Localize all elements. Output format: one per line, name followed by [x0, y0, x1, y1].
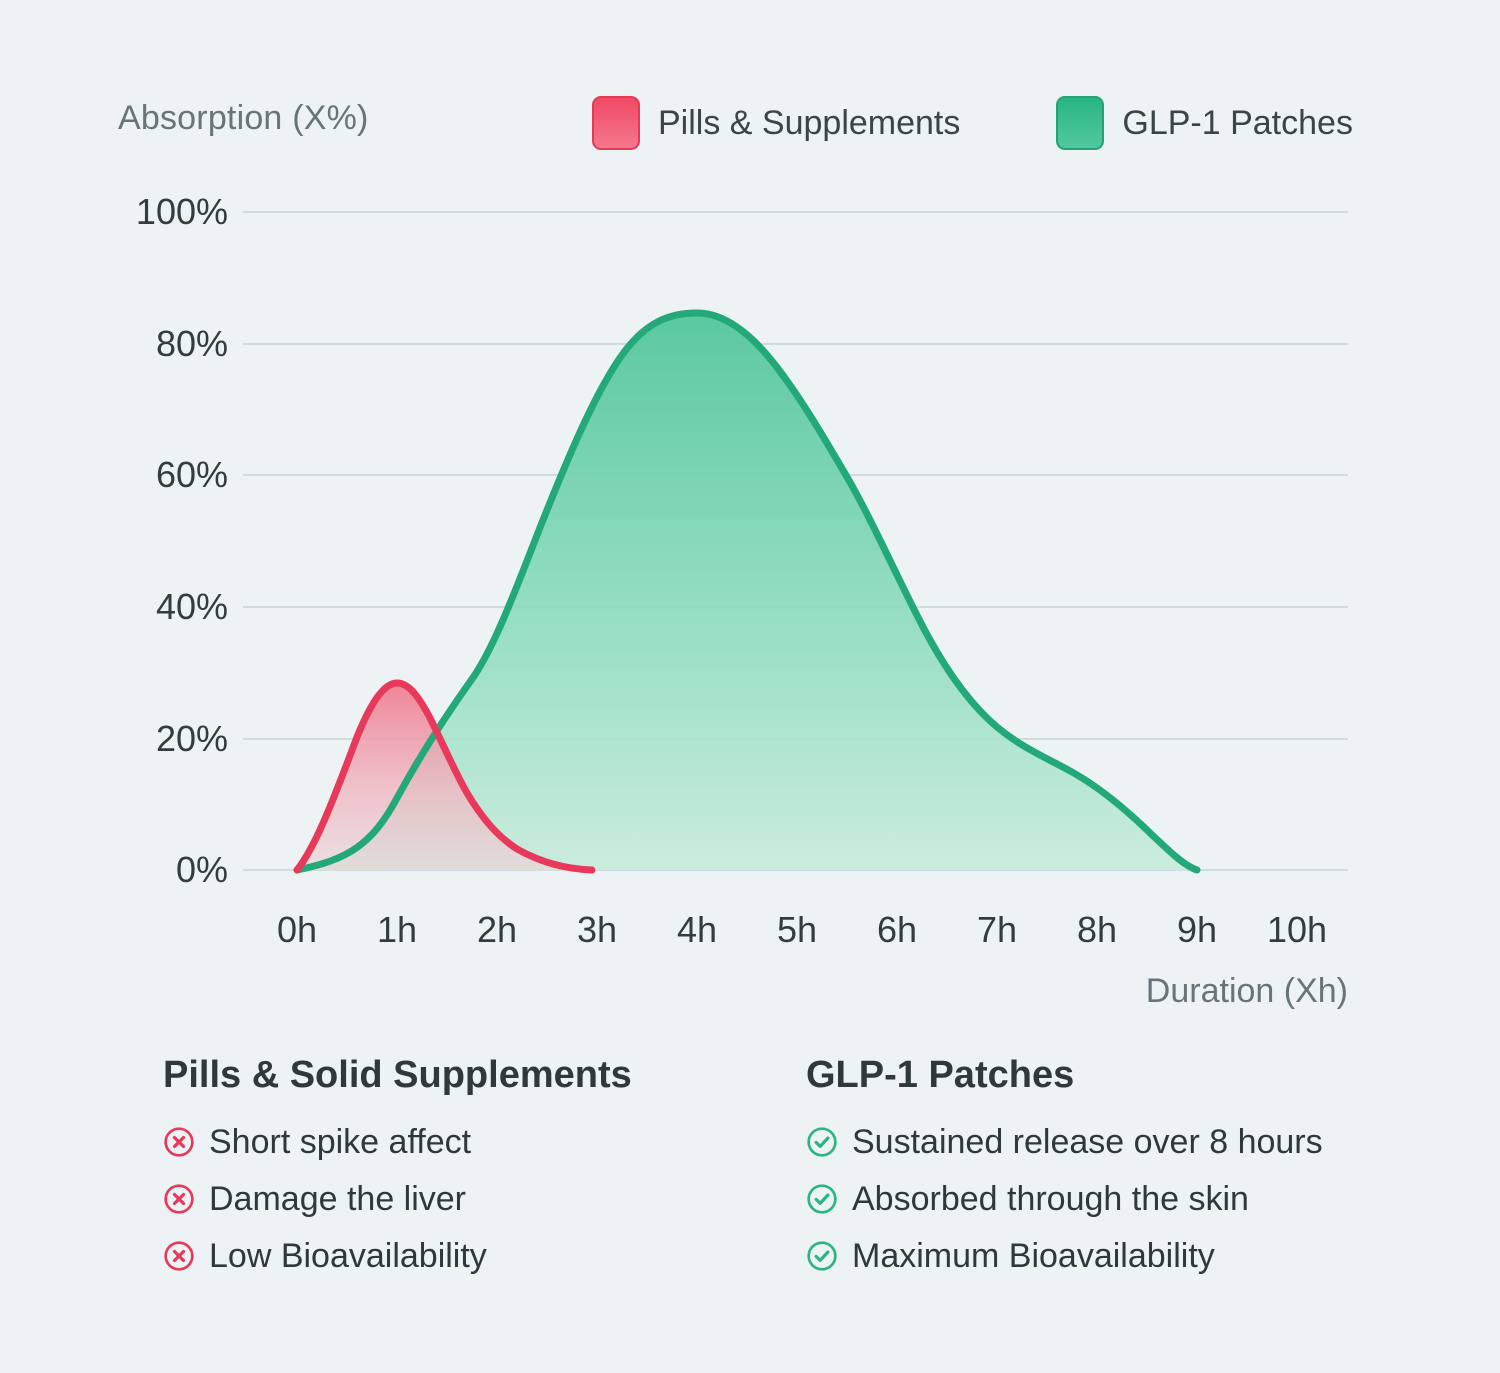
y-tick-40: 40% — [98, 589, 228, 625]
list-item: Absorbed through the skin — [806, 1177, 1323, 1221]
y-tick-60: 60% — [98, 457, 228, 493]
circle-x-icon — [163, 1240, 195, 1272]
y-tick-80: 80% — [98, 326, 228, 362]
x-axis-title: Duration (Xh) — [1146, 972, 1348, 1011]
list-item: Damage the liver — [163, 1177, 632, 1221]
column-patches: GLP-1 Patches Sustained release over 8 h… — [806, 1052, 1323, 1291]
y-tick-20: 20% — [98, 721, 228, 757]
list-item-label: Sustained release over 8 hours — [852, 1122, 1323, 1162]
chart-page: Absorption (X%) Pills & Supplements GLP-… — [0, 0, 1500, 1373]
circle-x-icon — [163, 1126, 195, 1158]
list-item: Short spike affect — [163, 1120, 632, 1164]
column-title-patches: GLP-1 Patches — [806, 1052, 1323, 1098]
y-tick-0: 0% — [98, 852, 228, 888]
list-item-label: Low Bioavailability — [209, 1236, 487, 1276]
circle-check-icon — [806, 1240, 838, 1272]
x-tick-10h: 10h — [1237, 912, 1357, 948]
chart-plot-area: 100% 80% 60% 40% 20% 0% 0h 1h 2h 3h 4h 5… — [0, 0, 1500, 1030]
list-item-label: Absorbed through the skin — [852, 1179, 1249, 1219]
list-item: Maximum Bioavailability — [806, 1234, 1323, 1278]
list-item-label: Damage the liver — [209, 1179, 466, 1219]
list-item: Low Bioavailability — [163, 1234, 632, 1278]
y-tick-100: 100% — [98, 194, 228, 230]
list-item-label: Maximum Bioavailability — [852, 1236, 1215, 1276]
circle-check-icon — [806, 1126, 838, 1158]
column-pills: Pills & Solid Supplements Short spike af… — [163, 1052, 632, 1291]
list-item-label: Short spike affect — [209, 1122, 471, 1162]
circle-x-icon — [163, 1183, 195, 1215]
circle-check-icon — [806, 1183, 838, 1215]
column-title-pills: Pills & Solid Supplements — [163, 1052, 632, 1098]
list-item: Sustained release over 8 hours — [806, 1120, 1323, 1164]
